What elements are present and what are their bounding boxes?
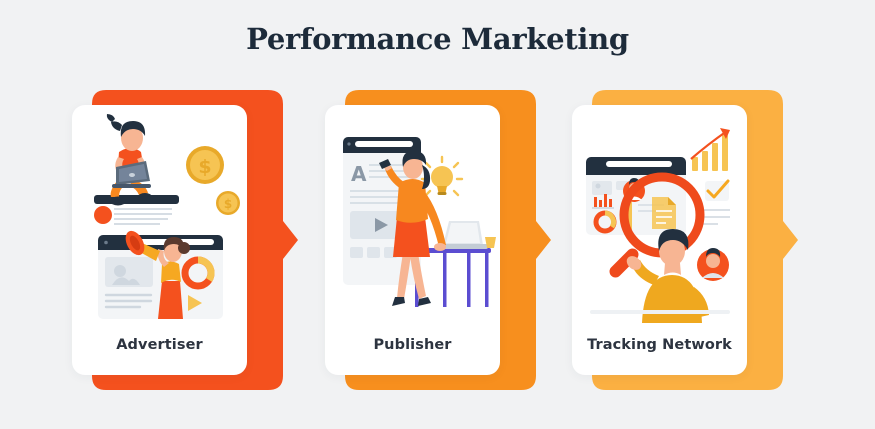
card-panel-publisher[interactable]: A (325, 105, 500, 375)
svg-text:$: $ (224, 197, 232, 211)
tracking-network-illustration (572, 105, 747, 323)
card-label-tracking-network: Tracking Network (572, 337, 747, 353)
svg-text:A: A (351, 162, 367, 186)
advertiser-illustration: $ $ (72, 105, 247, 323)
card-publisher[interactable]: A (325, 90, 555, 390)
card-panel-advertiser[interactable]: $ $ (72, 105, 247, 375)
card-label-advertiser: Advertiser (72, 337, 247, 353)
card-tracking-network[interactable]: Tracking Network (572, 90, 802, 390)
publisher-illustration: A (325, 105, 500, 323)
card-panel-tracking-network[interactable]: Tracking Network (572, 105, 747, 375)
page-title: Performance Marketing (0, 22, 875, 56)
card-label-publisher: Publisher (325, 337, 500, 353)
card-advertiser[interactable]: $ $ (72, 90, 302, 390)
svg-text:$: $ (198, 156, 211, 178)
poster-stage: Performance Marketing (0, 0, 875, 429)
